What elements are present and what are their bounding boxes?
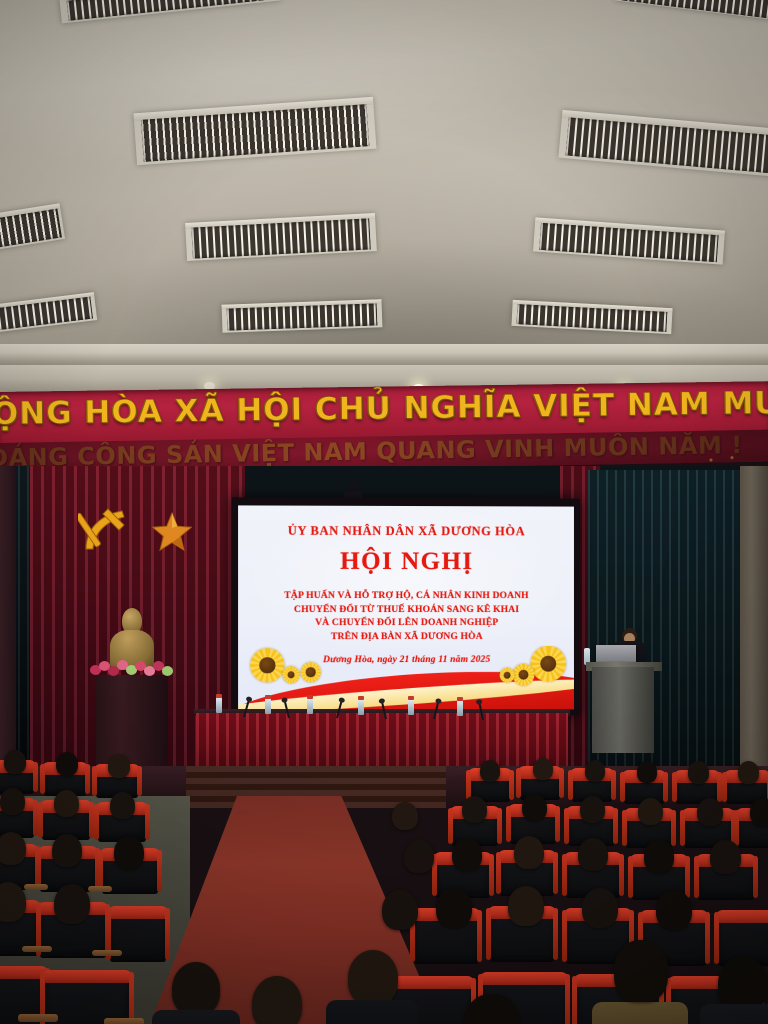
audience-head [56,752,78,776]
chair-armrest [24,884,48,890]
audience-torso [592,1002,688,1024]
ceiling-light-panel [222,299,383,333]
chair-armrest [88,886,112,892]
audience-head [514,836,544,869]
audience-head [252,976,302,1024]
audience-head [738,761,759,784]
audience-head [114,836,144,869]
audience-head [580,796,605,823]
wall-pillar-left [0,466,16,766]
audience-head [656,890,692,930]
audience-head [688,761,709,784]
water-bottle [408,699,414,715]
audience-head [4,750,26,774]
audience-head [54,884,90,924]
conference-hall-photo: ỘNG HÒA XÃ HỘI CHỦ NGHĨA VIỆT NAM MUÔN N… [0,0,768,1024]
ceiling [0,0,768,366]
slide-subtitle-line: VÀ CHUYỂN ĐỔI LÊN DOANH NGHIỆP [238,616,574,630]
projection-screen-frame: ỦY BAN NHÂN DÂN XÃ DƯƠNG HÒA HỘI NGHỊ TẬ… [232,497,580,716]
audience-head [110,792,135,819]
audience-head [750,798,768,826]
audience-torso [700,1004,768,1024]
audience-head [382,890,418,930]
audience-head [582,888,618,928]
audience-torso [326,1000,418,1024]
audience-head [480,760,500,782]
slide-subtitle-line: CHUYỂN ĐỔI TỪ THUẾ KHOÁN SANG KÊ KHAI [238,602,574,616]
slide-heading: HỘI NGHỊ [238,548,574,577]
audience-head [710,840,741,874]
audience-head [614,940,668,1002]
audience-head [348,950,398,1006]
audience-head [172,962,220,1016]
flower-arrangement [88,657,178,679]
projection-screen: ỦY BAN NHÂN DÂN XÃ DƯƠNG HÒA HỘI NGHỊ TẬ… [238,505,574,710]
water-bottle [358,699,364,715]
lectern [592,667,654,753]
audience-head [638,798,663,825]
audience-head [54,790,79,817]
wall-right-edge [740,466,768,766]
slogan-banner-primary-text: ỘNG HÒA XÃ HỘI CHỦ NGHĨA VIỆT NAM MUÔN N… [0,383,768,432]
audience-head [462,796,487,823]
water-bottle [457,700,463,716]
slide-subtitle: TẬP HUẤN VÀ HỖ TRỢ HỘ, CÁ NHÂN KINH DOAN… [238,589,574,643]
water-bottle [307,698,313,714]
audience-head [578,838,608,871]
gold-star-icon [152,512,192,552]
chair-armrest [92,950,122,956]
slide-organization: ỦY BAN NHÂN DÂN XÃ DƯƠNG HÒA [238,524,574,540]
sunflower-icon [513,664,535,686]
audience-head [404,840,434,873]
slide-subtitle-line: TRÊN ĐỊA BÀN XÃ DƯƠNG HÒA [238,629,574,643]
sunflower-icon [250,648,284,682]
audience-area [0,744,768,1024]
sunflower-icon [530,646,566,682]
sunflower-icon [301,662,321,682]
sunflower-icon [282,666,299,683]
chair-armrest [104,1018,144,1024]
audience-head [0,832,26,865]
audience-head [392,802,418,830]
audience-head [533,758,553,780]
audience-head [644,840,674,873]
slide-subtitle-line: TẬP HUẤN VÀ HỖ TRỢ HỘ, CÁ NHÂN KINH DOAN… [238,589,574,603]
audience-head [52,834,82,867]
water-bottle [265,698,271,714]
audience-head [522,794,547,821]
hammer-and-sickle-icon [78,505,130,553]
audience-head [108,754,130,778]
chair-armrest [22,946,52,952]
audience-head [508,886,544,926]
audience-head [697,798,723,826]
audience-torso [152,1010,240,1024]
audience-head [637,761,657,783]
audience-head [585,760,605,782]
audience-head [436,888,472,928]
water-bottle [216,697,222,713]
audience-head [0,788,25,815]
sunflower-icon [500,668,515,683]
slide-decoration [238,646,574,711]
audience-head [452,838,482,871]
chair-armrest [18,1014,58,1022]
